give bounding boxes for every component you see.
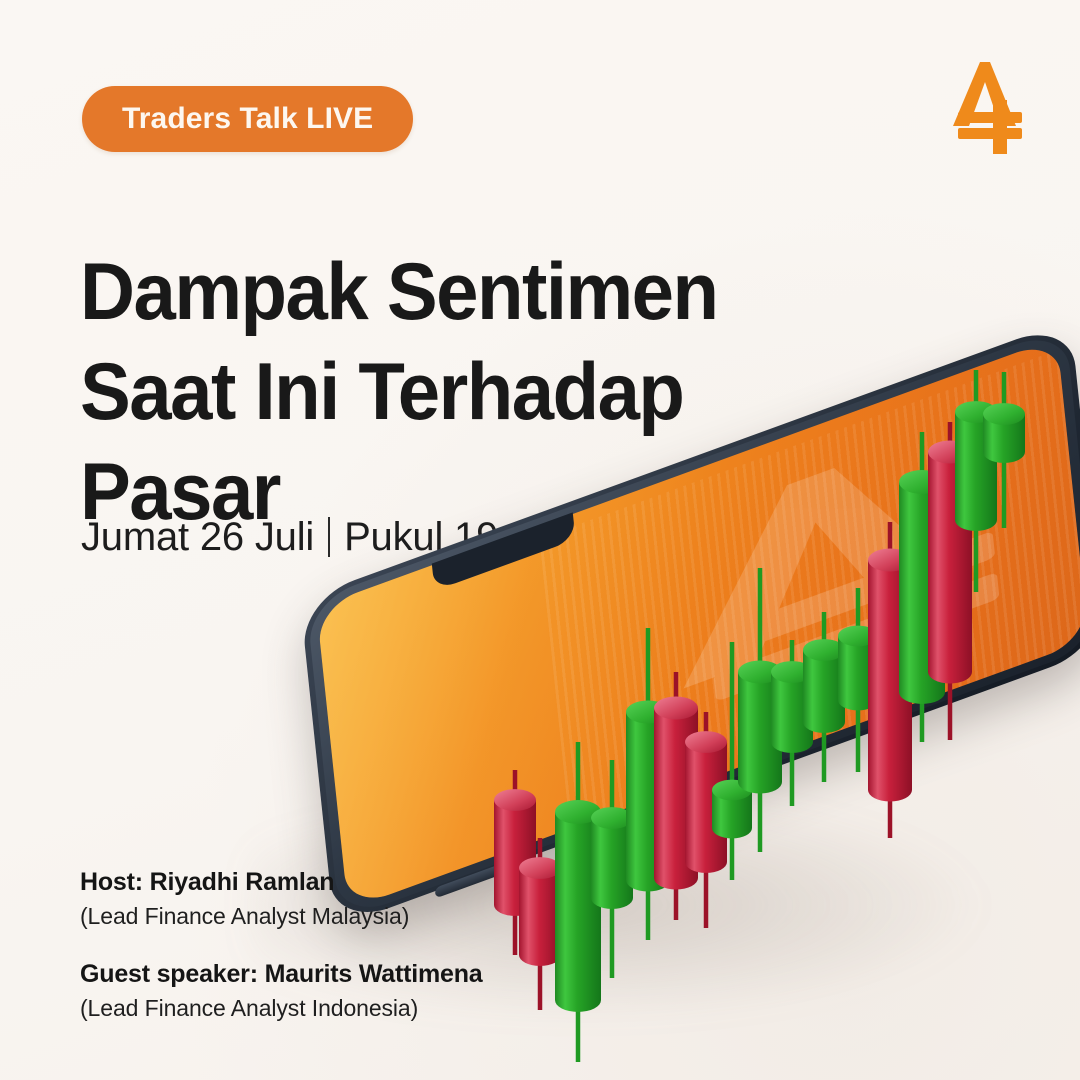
schedule-date: Jumat 26 Juli	[81, 510, 314, 564]
candlestick	[685, 712, 727, 928]
promo-poster: Traders Talk LIVE Dampak Sentimen Saat I…	[0, 0, 1080, 1080]
candlestick	[738, 568, 782, 852]
candlestick	[712, 642, 752, 880]
candlestick	[591, 760, 633, 978]
candlestick	[955, 370, 997, 592]
speaker-credits: Host: Riyadhi Ramlan (Lead Finance Analy…	[80, 866, 483, 1024]
host-credit: Host: Riyadhi Ramlan (Lead Finance Analy…	[80, 866, 483, 932]
candlestick	[983, 372, 1025, 528]
guest-credit: Guest speaker: Maurits Wattimena (Lead F…	[80, 958, 483, 1024]
guest-name: Guest speaker: Maurits Wattimena	[80, 958, 483, 990]
host-role: (Lead Finance Analyst Malaysia)	[80, 900, 483, 932]
candlestick	[494, 770, 536, 955]
guest-role: (Lead Finance Analyst Indonesia)	[80, 992, 483, 1024]
live-badge: Traders Talk LIVE	[82, 86, 413, 152]
candlestick	[899, 432, 945, 742]
candlestick	[519, 838, 561, 1010]
host-name: Host: Riyadhi Ramlan	[80, 866, 483, 898]
candlestick	[928, 422, 972, 740]
schedule-line: Jumat 26 Juli Pukul 19.00 WIB	[81, 510, 639, 564]
octa-a-logo	[936, 56, 1032, 160]
candlestick	[555, 742, 601, 1062]
candlestick	[654, 672, 698, 920]
live-badge-label: Traders Talk LIVE	[122, 102, 373, 136]
schedule-separator	[328, 517, 330, 557]
candlestick	[626, 628, 670, 940]
headline-line-1: Dampak Sentimen	[80, 242, 757, 342]
page-title: Dampak Sentimen Saat Ini Terhadap Pasar	[80, 242, 757, 542]
candlestick	[838, 588, 878, 772]
headline-line-2: Saat Ini Terhadap	[80, 342, 757, 442]
schedule-time: Pukul 19.00 WIB	[344, 510, 639, 564]
candlestick	[771, 640, 813, 806]
candlestick	[868, 522, 912, 838]
candlestick	[803, 612, 845, 782]
